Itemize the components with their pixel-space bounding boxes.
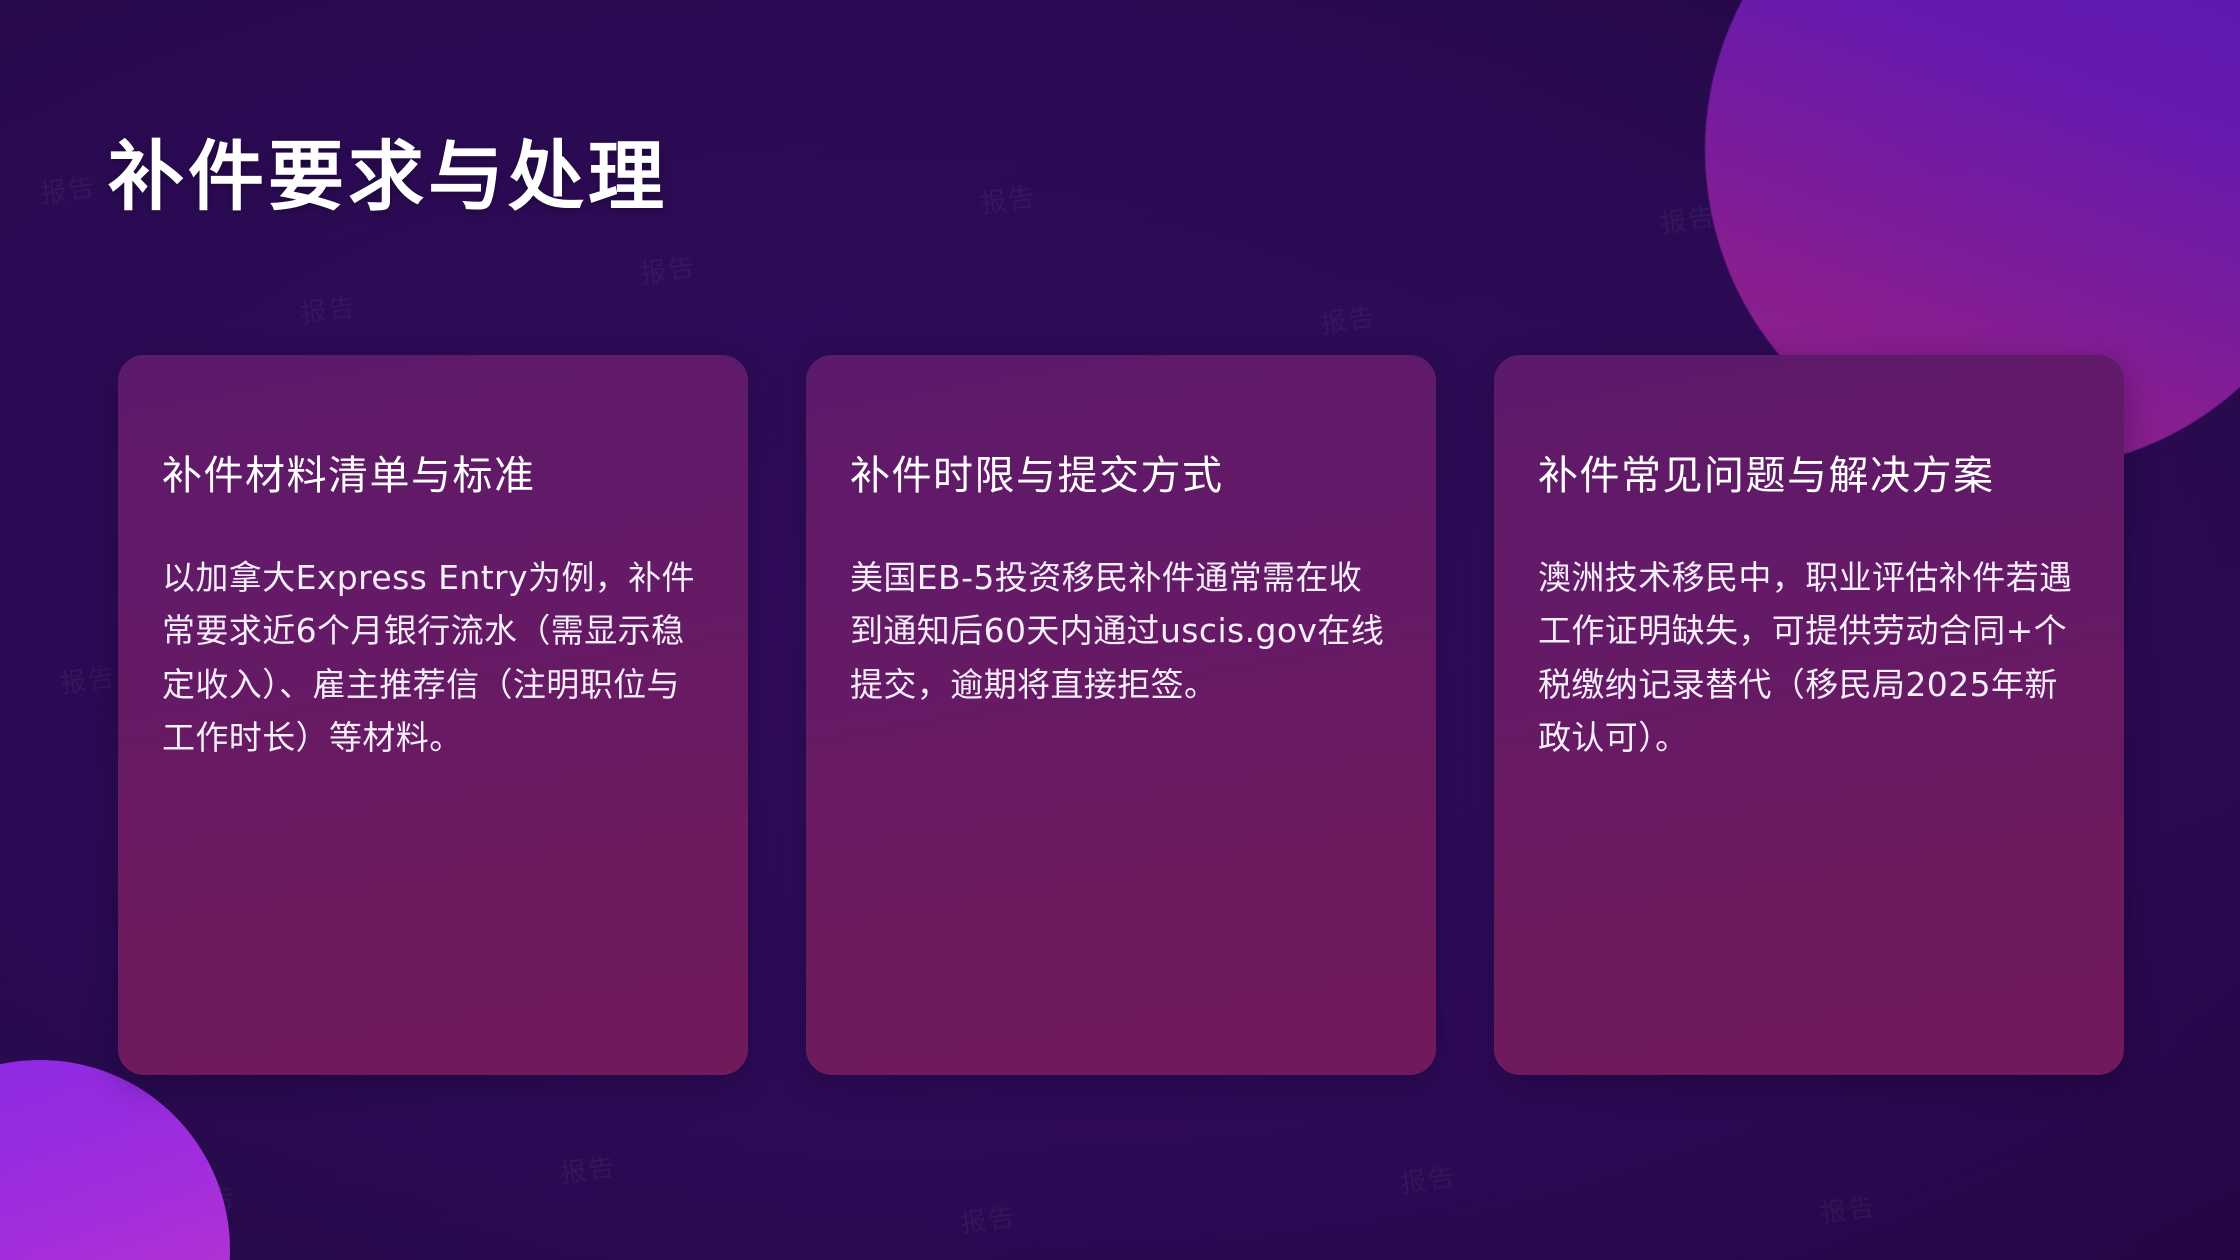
card-body: 以加拿大Express Entry为例，补件常要求近6个月银行流水（需显示稳定收… — [162, 551, 704, 765]
watermark-text: 报告 — [638, 246, 699, 290]
watermark-text: 报告 — [1398, 1156, 1459, 1200]
watermark-text: 报告 — [178, 1176, 239, 1220]
watermark-text: 报告 — [1818, 1186, 1879, 1230]
info-card-1[interactable]: 补件材料清单与标准 以加拿大Express Entry为例，补件常要求近6个月银… — [118, 355, 748, 1075]
slide-root: 报告 报告 报告 报告 报告 报告 报告 报告 报告 报告 报告 报告 报告 补… — [0, 0, 2240, 1260]
info-card-2[interactable]: 补件时限与提交方式 美国EB-5投资移民补件通常需在收到通知后60天内通过usc… — [806, 355, 1436, 1075]
decorative-circle-bottom-left — [0, 1060, 230, 1260]
page-title: 补件要求与处理 — [108, 139, 668, 215]
card-body: 澳洲技术移民中，职业评估补件若遇工作证明缺失，可提供劳动合同+个税缴纳记录替代（… — [1538, 551, 2080, 765]
watermark-text: 报告 — [58, 656, 119, 700]
watermark-text: 报告 — [298, 286, 359, 330]
watermark-text: 报告 — [958, 1196, 1019, 1240]
info-card-3[interactable]: 补件常见问题与解决方案 澳洲技术移民中，职业评估补件若遇工作证明缺失，可提供劳动… — [1494, 355, 2124, 1075]
card-title: 补件材料清单与标准 — [162, 451, 704, 501]
card-body: 美国EB-5投资移民补件通常需在收到通知后60天内通过uscis.gov在线提交… — [850, 551, 1392, 711]
card-row: 补件材料清单与标准 以加拿大Express Entry为例，补件常要求近6个月银… — [118, 355, 2124, 1075]
watermark-text: 报告 — [978, 176, 1039, 220]
card-title: 补件常见问题与解决方案 — [1538, 451, 2080, 501]
watermark-text: 报告 — [1658, 196, 1719, 240]
watermark-text: 报告 — [38, 166, 99, 210]
card-title: 补件时限与提交方式 — [850, 451, 1392, 501]
watermark-text: 报告 — [558, 1146, 619, 1190]
watermark-text: 报告 — [1318, 296, 1379, 340]
